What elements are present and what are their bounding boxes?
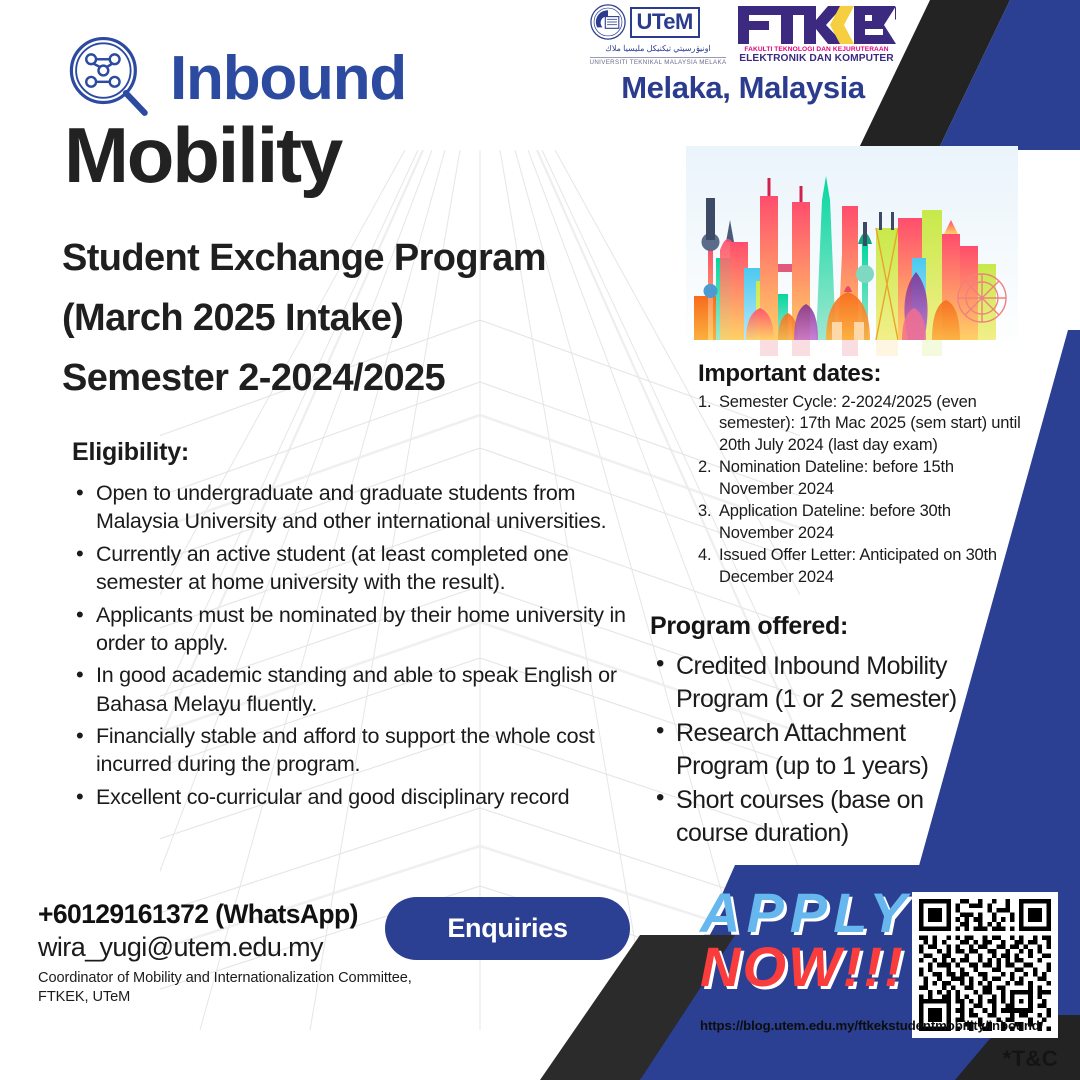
- list-item: Currently an active student (at least co…: [72, 540, 632, 597]
- apply-url[interactable]: https://blog.utem.edu.my/ftkekstudentmob…: [700, 1018, 1043, 1033]
- important-dates-section: Important dates: Semester Cycle: 2-2024/…: [698, 360, 1028, 589]
- subtitle-line-1: Student Exchange Program: [62, 228, 546, 288]
- important-dates-list: Semester Cycle: 2-2024/2025 (even semest…: [698, 392, 1028, 588]
- subtitle-line-3: Semester 2-2024/2025: [62, 348, 546, 408]
- list-item: Research Attachment Program (up to 1 yea…: [650, 717, 990, 782]
- list-item: In good academic standing and able to sp…: [72, 661, 632, 718]
- list-item: Semester Cycle: 2-2024/2025 (even semest…: [698, 392, 1028, 456]
- list-item: Excellent co-curricular and good discipl…: [72, 783, 632, 811]
- list-item: Application Dateline: before 30th Novemb…: [698, 501, 1028, 544]
- utem-seal-icon: [590, 4, 626, 40]
- page-title: Inbound Mobility: [62, 32, 406, 192]
- eligibility-list: Open to undergraduate and graduate stude…: [72, 479, 632, 811]
- eligibility-heading: Eligibility:: [72, 438, 632, 467]
- eligibility-section: Eligibility: Open to undergraduate and g…: [72, 438, 632, 815]
- subtitle-line-2: (March 2025 Intake): [62, 288, 546, 348]
- location-label: Melaka, Malaysia: [578, 70, 908, 106]
- apply-now-callout: APPLY NOW!!!: [700, 890, 913, 990]
- page-subtitle: Student Exchange Program (March 2025 Int…: [62, 228, 546, 408]
- title-line-mobility: Mobility: [64, 118, 406, 192]
- contact-role-line-1: Coordinator of Mobility and Internationa…: [38, 969, 458, 988]
- list-item: Credited Inbound Mobility Program (1 or …: [650, 650, 990, 715]
- title-line-inbound: Inbound: [170, 50, 406, 109]
- enquiries-button[interactable]: Enquiries: [385, 897, 630, 960]
- city-skyline-image: [686, 146, 1018, 360]
- ftkek-logo: FAKULTI TEKNOLOGI DAN KEJURUTERAAN ELEKT…: [736, 4, 896, 64]
- program-offered-heading: Program offered:: [650, 612, 990, 641]
- utem-jawi-text: اونيۏرسيتي تيكنيكل مليسيا ملاك: [590, 44, 727, 53]
- list-item: Open to undergraduate and graduate stude…: [72, 479, 632, 536]
- ftkek-tagline-2: ELEKTRONIK DAN KOMPUTER: [736, 53, 896, 64]
- list-item: Financially stable and afford to support…: [72, 722, 632, 779]
- ftkek-tagline-1: FAKULTI TEKNOLOGI DAN KEJURUTERAAN: [736, 46, 896, 53]
- list-item: Applicants must be nominated by their ho…: [72, 601, 632, 658]
- list-item: Short courses (base on course duration): [650, 784, 990, 849]
- list-item: Nomination Dateline: before 15th Novembe…: [698, 457, 1028, 500]
- ftkek-wordmark-icon: [736, 4, 896, 46]
- institution-logos: UTeM اونيۏرسيتي تيكنيكل مليسيا ملاك UNIV…: [578, 4, 908, 134]
- poster-canvas: UTeM اونيۏرسيتي تيكنيكل مليسيا ملاك UNIV…: [0, 0, 1080, 1080]
- apply-line-2: NOW!!!: [700, 944, 913, 990]
- qr-code-icon[interactable]: [912, 892, 1058, 1038]
- program-offered-section: Program offered: Credited Inbound Mobili…: [650, 612, 990, 851]
- utem-wordmark: UTeM: [630, 7, 700, 38]
- important-dates-heading: Important dates:: [698, 360, 1028, 388]
- contact-role-line-2: FTKEK, UTeM: [38, 988, 458, 1007]
- terms-note: *T&C: [1003, 1046, 1058, 1072]
- utem-logo: UTeM اونيۏرسيتي تيكنيكل مليسيا ملاك UNIV…: [590, 4, 727, 66]
- utem-subtitle: UNIVERSITI TEKNIKAL MALAYSIA MELAKA: [590, 57, 727, 66]
- apply-line-1: APPLY: [700, 890, 913, 936]
- list-item: Issued Offer Letter: Anticipated on 30th…: [698, 545, 1028, 588]
- program-offered-list: Credited Inbound Mobility Program (1 or …: [650, 650, 990, 849]
